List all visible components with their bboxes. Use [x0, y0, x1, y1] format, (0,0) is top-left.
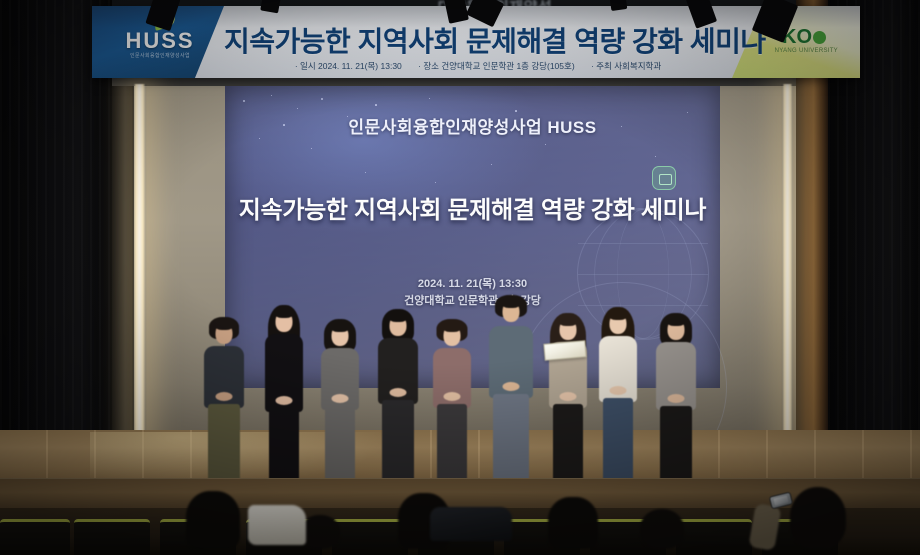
- participant-5: [430, 320, 474, 492]
- hands: [444, 392, 461, 401]
- legs: [208, 404, 240, 484]
- konyang-logo-subtext: NYANG UNIVERSITY: [775, 48, 838, 54]
- auditorium-seat: [74, 519, 150, 555]
- participant-2: [262, 312, 306, 492]
- legs: [269, 408, 299, 484]
- hair-top: [275, 307, 294, 318]
- auditorium-seat: [676, 519, 752, 555]
- huss-logo-subtext: 인문사회융합인재양성사업: [108, 52, 212, 59]
- hands: [276, 396, 293, 405]
- audience-1: [186, 491, 240, 549]
- banner-details: · 일시 2024. 11. 21(목) 13:30 · 장소 건양대학교 인문…: [224, 60, 732, 72]
- banner-host: · 주최 사회복지학과: [591, 61, 661, 71]
- hands: [668, 394, 685, 403]
- audience-head: [640, 509, 684, 549]
- huss-logo-text: HUSS: [110, 28, 210, 54]
- auditorium-seat: [0, 519, 70, 555]
- hands: [332, 394, 349, 403]
- dark-jacket-on-seat: [430, 507, 512, 541]
- participant-1: [201, 320, 247, 492]
- konyang-logo-dot: [813, 31, 826, 44]
- banner-datetime: · 일시 2024. 11. 21(목) 13:30: [295, 61, 402, 71]
- hair-top: [215, 319, 234, 330]
- screen-meta-place: 건양대학교 인문학관 1층 강당: [225, 293, 720, 310]
- hands: [560, 392, 577, 401]
- legs: [382, 400, 414, 484]
- legs: [603, 398, 633, 486]
- audience-5: [640, 509, 684, 549]
- seminar-photo-scene: 대학융합인재양성 HUSS 인문사회융합인재양성사업 KO NYANG UNIV…: [0, 0, 920, 555]
- hair-top: [502, 297, 521, 308]
- screen-seminar-title: 지속가능한 지역사회 문제해결 역량 강화 세미나: [225, 190, 720, 225]
- hair-top: [609, 309, 628, 320]
- screen-meta-block: 2024. 11. 21(목) 13:30 건양대학교 인문학관 1층 강당: [225, 276, 720, 310]
- participant-3: [318, 320, 362, 492]
- hair-top: [443, 321, 462, 332]
- audience-head: [186, 491, 240, 549]
- hair-top: [389, 311, 408, 322]
- hair-top: [559, 315, 578, 326]
- participant-8: [596, 312, 640, 492]
- draped-garment: [248, 505, 306, 545]
- audience-head: [790, 487, 846, 549]
- legs: [325, 406, 355, 484]
- hands: [503, 382, 520, 391]
- audience-photographer: [790, 487, 846, 549]
- hands: [216, 392, 233, 401]
- wall-light-strip-left: [133, 84, 146, 489]
- hair-top: [331, 321, 350, 332]
- legs: [437, 404, 467, 484]
- participant-6: [486, 306, 536, 492]
- participant-4: [375, 314, 421, 492]
- participant-9: [653, 316, 699, 492]
- audience-4: [548, 497, 598, 549]
- legs: [660, 406, 692, 486]
- award-certificate: [543, 340, 586, 361]
- banner-place: · 장소 건양대학교 인문학관 1층 강당(105호): [418, 61, 575, 71]
- hands: [610, 386, 627, 395]
- legs: [553, 404, 583, 486]
- screen-meta-date: 2024. 11. 21(목) 13:30: [225, 276, 720, 293]
- audience-head: [548, 497, 598, 549]
- hands: [390, 388, 407, 397]
- audience-head: [300, 515, 340, 549]
- auditorium-seat: [332, 519, 408, 555]
- wall-light-strip-right: [782, 84, 793, 489]
- banner-title: 지속가능한 지역사회 문제해결 역량 강화 세미나: [224, 20, 732, 60]
- hair-top: [667, 315, 686, 326]
- eco-document-icon: [652, 166, 676, 190]
- legs: [493, 394, 529, 486]
- audience-2: [300, 515, 340, 549]
- screen-program-line: 인문사회융합인재양성사업 HUSS: [225, 113, 720, 138]
